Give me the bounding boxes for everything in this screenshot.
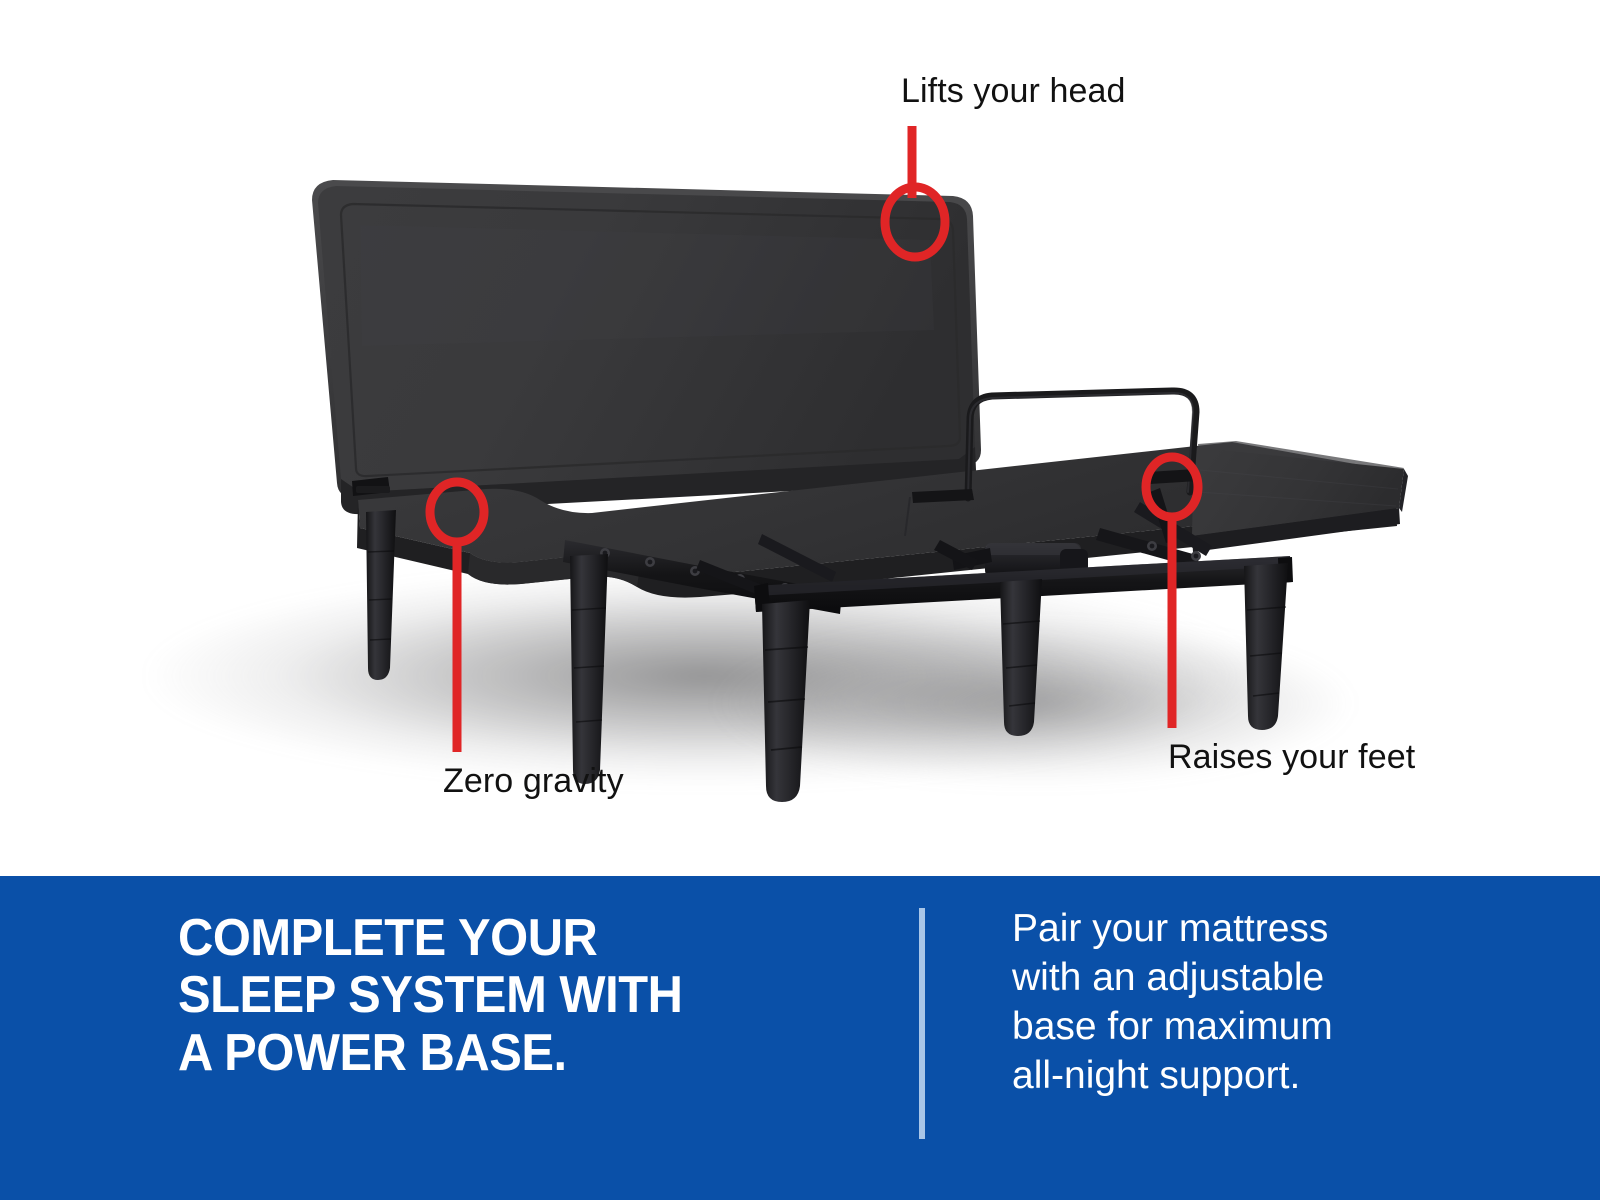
promo-page: Lifts your head Zero gravity Raises your… [0,0,1600,1200]
promo-subcopy: Pair your mattress with an adjustable ba… [1012,904,1532,1101]
promo-headline-block: COMPLETE YOUR SLEEP SYSTEM WITH A POWER … [178,910,878,1082]
promo-banner-divider [919,908,925,1139]
callout-label-lifts-head: Lifts your head [901,72,1126,111]
promo-headline: COMPLETE YOUR SLEEP SYSTEM WITH A POWER … [178,910,836,1082]
hero-product-image: Lifts your head Zero gravity Raises your… [0,0,1600,876]
callout-label-raises-feet: Raises your feet [1168,738,1415,777]
callout-label-zero-gravity: Zero gravity [443,762,624,801]
promo-banner: COMPLETE YOUR SLEEP SYSTEM WITH A POWER … [0,876,1600,1200]
promo-subcopy-block: Pair your mattress with an adjustable ba… [1012,904,1532,1101]
promo-banner-content: COMPLETE YOUR SLEEP SYSTEM WITH A POWER … [0,876,1600,1200]
